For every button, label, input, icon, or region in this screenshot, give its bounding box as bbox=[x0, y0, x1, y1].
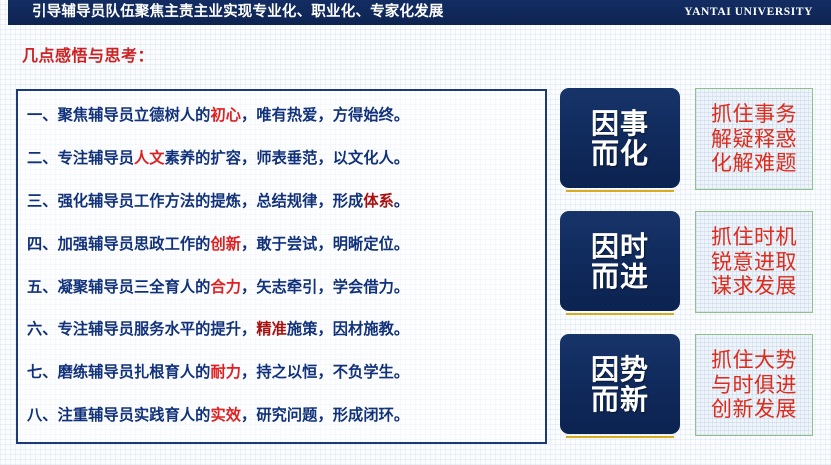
list-item-number: 二、 bbox=[27, 150, 58, 167]
note-line: 创新发展 bbox=[711, 397, 797, 422]
note-line: 锐意进取 bbox=[711, 250, 797, 275]
list-item-text-pre: 聚焦辅导员立德树人的 bbox=[58, 107, 211, 124]
list-item-highlight: 精准 bbox=[256, 321, 287, 338]
list-item-text-post: ，持之以恒，不负学生。 bbox=[241, 364, 409, 381]
navy-principle-card: 因时 而进 bbox=[560, 211, 680, 311]
principles-column: 因事 而化 抓住事务 解疑释惑 化解难题 因时 而进 抓住时机 bbox=[560, 88, 822, 444]
list-item-highlight: 合力 bbox=[210, 279, 241, 296]
list-item-number: 四、 bbox=[27, 236, 58, 253]
list-item-highlight: 创新 bbox=[210, 236, 241, 253]
navy-card-wrapper: 因势 而新 bbox=[560, 334, 680, 438]
note-line: 抓住大势 bbox=[711, 348, 797, 373]
navy-card-line2: 而化 bbox=[591, 139, 649, 168]
note-line: 谋求发展 bbox=[711, 274, 797, 299]
list-item-number: 一、 bbox=[27, 107, 58, 124]
list-item-text-post: 施策，因材施教。 bbox=[287, 321, 409, 338]
principle-panel-yinshi-time: 因时 而进 抓住时机 锐意进取 谋求发展 bbox=[560, 211, 822, 321]
navy-principle-card: 因事 而化 bbox=[560, 88, 680, 188]
list-item-text-pre: 强化辅导员工作方法的提炼，总结规律，形成 bbox=[58, 193, 364, 210]
section-subtitle: 几点感悟与思考： bbox=[22, 42, 154, 66]
list-item: 二、专注辅导员人文素养的扩容，师表垂范，以文化人。 bbox=[27, 151, 538, 168]
note-line: 抓住事务 bbox=[711, 102, 797, 127]
list-item-highlight: 人文 bbox=[134, 150, 165, 167]
list-item-text-pre: 加强辅导员思政工作的 bbox=[58, 236, 211, 253]
principle-panel-yinshi: 因事 而化 抓住事务 解疑释惑 化解难题 bbox=[560, 88, 822, 198]
list-item-text-post: 素养的扩容，师表垂范，以文化人。 bbox=[165, 150, 410, 167]
note-line: 解疑释惑 bbox=[711, 127, 797, 152]
gold-accent-bar bbox=[566, 436, 674, 438]
header-bar: 引导辅导员队伍聚焦主责主业实现专业化、职业化、专家化发展 YANTAI UNIV… bbox=[8, 0, 831, 25]
list-item: 一、聚焦辅导员立德树人的初心，唯有热爱，方得始终。 bbox=[27, 108, 538, 125]
list-item-highlight: 初心 bbox=[210, 107, 241, 124]
note-card: 抓住大势 与时俱进 创新发展 bbox=[695, 334, 813, 436]
list-item-number: 八、 bbox=[27, 407, 58, 424]
list-item-number: 三、 bbox=[27, 193, 58, 210]
gold-accent-bar bbox=[566, 313, 674, 315]
navy-card-line2: 而新 bbox=[591, 385, 649, 414]
list-item-text-pre: 专注辅导员服务水平的提升， bbox=[58, 321, 257, 338]
list-item-number: 六、 bbox=[27, 321, 58, 338]
insights-list-panel: 一、聚焦辅导员立德树人的初心，唯有热爱，方得始终。 二、专注辅导员人文素养的扩容… bbox=[16, 89, 547, 444]
note-line: 与时俱进 bbox=[711, 373, 797, 398]
navy-card-line1: 因势 bbox=[591, 355, 649, 384]
list-item-highlight: 耐力 bbox=[210, 364, 241, 381]
list-item: 六、专注辅导员服务水平的提升，精准施策，因材施教。 bbox=[27, 322, 538, 339]
note-line: 化解难题 bbox=[711, 151, 797, 176]
list-item-text-post: ，唯有热爱，方得始终。 bbox=[241, 107, 409, 124]
list-item-text-post: ，研究问题，形成闭环。 bbox=[241, 407, 409, 424]
list-item-text-post: ，敢于尝试，明晰定位。 bbox=[241, 236, 409, 253]
navy-card-wrapper: 因事 而化 bbox=[560, 88, 680, 192]
navy-card-wrapper: 因时 而进 bbox=[560, 211, 680, 315]
note-card: 抓住时机 锐意进取 谋求发展 bbox=[695, 211, 813, 313]
list-item-highlight: 实效 bbox=[210, 407, 241, 424]
list-item: 五、凝聚辅导员三全育人的合力，矢志牵引，学会借力。 bbox=[27, 280, 538, 297]
university-brand: YANTAI UNIVERSITY bbox=[684, 7, 813, 19]
list-item-highlight: 体系 bbox=[363, 193, 394, 210]
principle-panel-yinshi-trend: 因势 而新 抓住大势 与时俱进 创新发展 bbox=[560, 334, 822, 444]
navy-card-line2: 而进 bbox=[591, 262, 649, 291]
list-item: 七、磨练辅导员扎根育人的耐力，持之以恒，不负学生。 bbox=[27, 365, 538, 382]
list-item-text-pre: 磨练辅导员扎根育人的 bbox=[58, 364, 211, 381]
page-title: 引导辅导员队伍聚焦主责主业实现专业化、职业化、专家化发展 bbox=[32, 5, 444, 20]
list-item: 四、加强辅导员思政工作的创新，敢于尝试，明晰定位。 bbox=[27, 237, 538, 254]
note-line: 抓住时机 bbox=[711, 225, 797, 250]
navy-card-line1: 因时 bbox=[591, 232, 649, 261]
list-item-text-pre: 凝聚辅导员三全育人的 bbox=[58, 279, 211, 296]
list-item-text-pre: 专注辅导员 bbox=[58, 150, 134, 167]
note-card: 抓住事务 解疑释惑 化解难题 bbox=[695, 88, 813, 190]
slide-canvas: 引导辅导员队伍聚焦主责主业实现专业化、职业化、专家化发展 YANTAI UNIV… bbox=[0, 0, 831, 465]
list-item-text-pre: 注重辅导员实践育人的 bbox=[58, 407, 211, 424]
list-item: 三、强化辅导员工作方法的提炼，总结规律，形成体系。 bbox=[27, 194, 538, 211]
list-item-text-post: 。 bbox=[394, 193, 409, 210]
gold-accent-bar bbox=[566, 190, 674, 192]
list-item: 八、注重辅导员实践育人的实效，研究问题，形成闭环。 bbox=[27, 408, 538, 425]
list-item-number: 七、 bbox=[27, 364, 58, 381]
navy-card-line1: 因事 bbox=[591, 109, 649, 138]
list-item-number: 五、 bbox=[27, 279, 58, 296]
list-item-text-post: ，矢志牵引，学会借力。 bbox=[241, 279, 409, 296]
navy-principle-card: 因势 而新 bbox=[560, 334, 680, 434]
